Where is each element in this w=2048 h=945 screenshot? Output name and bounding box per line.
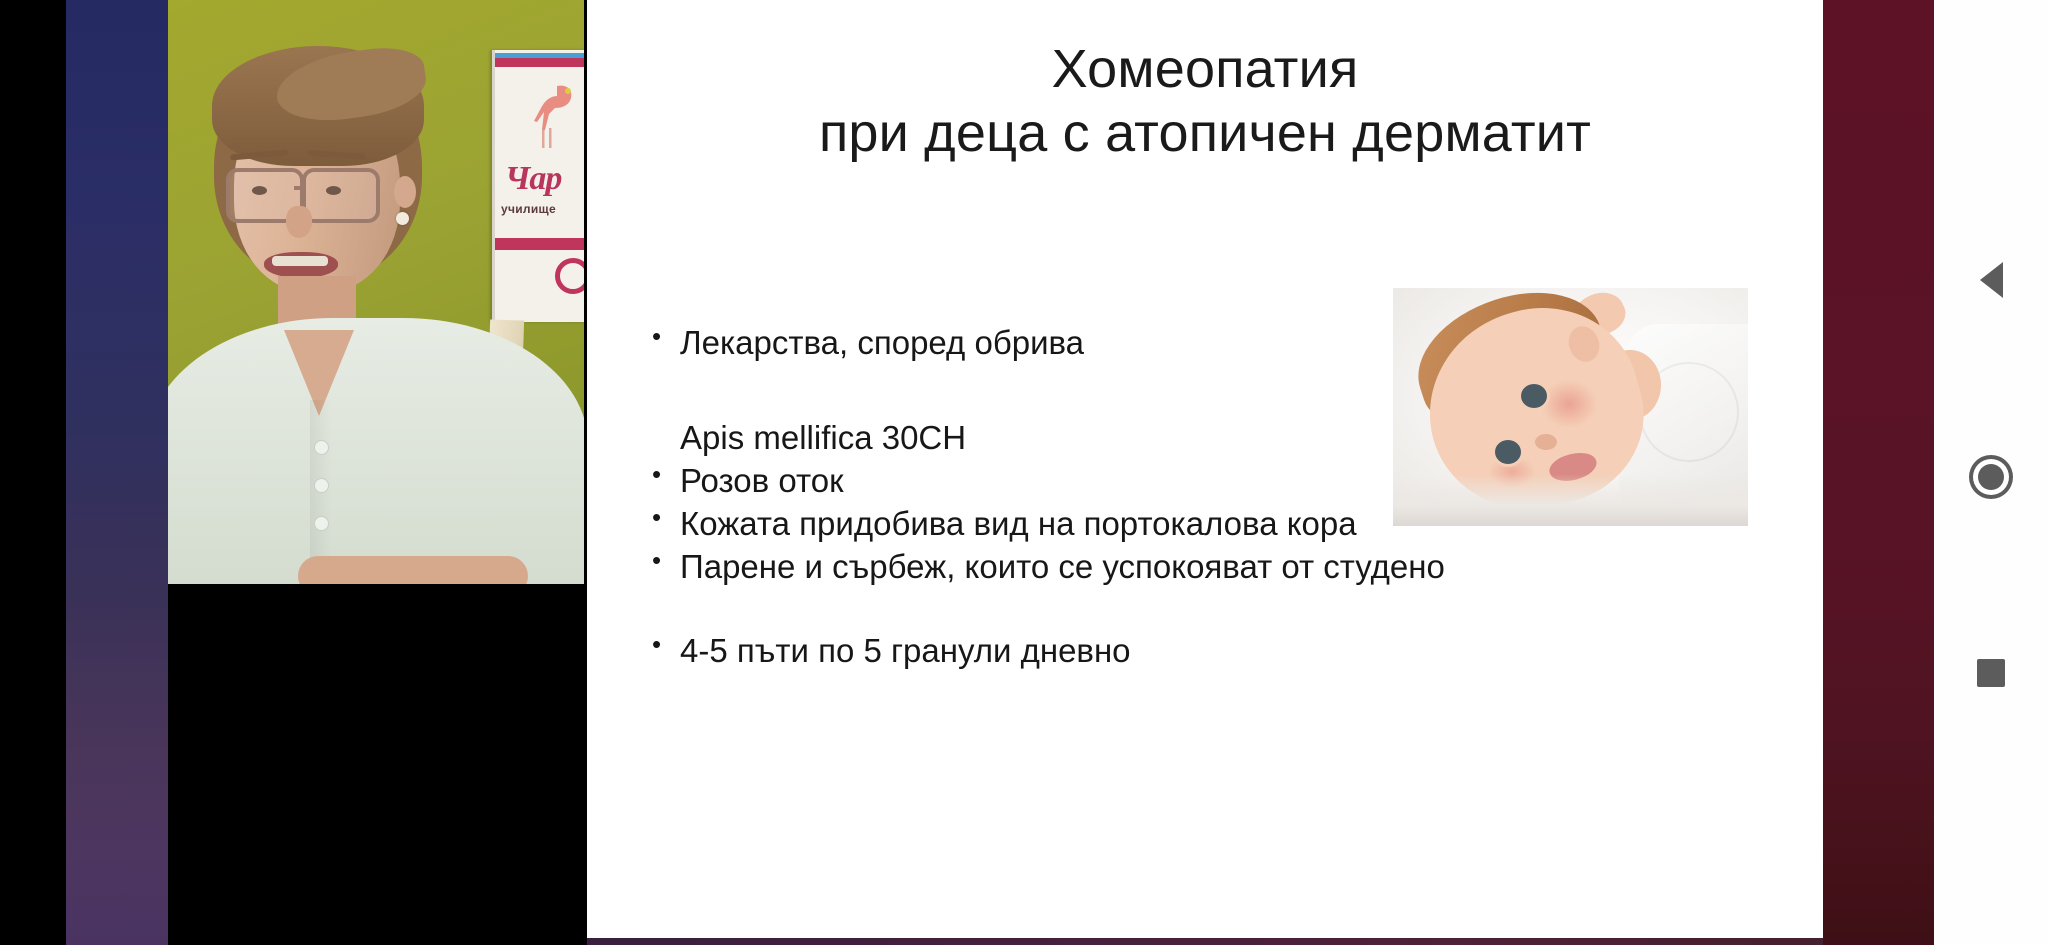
- ambient-glow-left: [66, 0, 168, 945]
- presenter-cardigan: [168, 318, 584, 584]
- nav-home-button[interactable]: [1934, 434, 2048, 520]
- nav-recents-button[interactable]: [1934, 630, 2048, 716]
- baby-cheek-rash: [1541, 380, 1597, 428]
- video-letterbox-bottom: [168, 584, 584, 945]
- android-navigation-bar: [1934, 0, 2048, 945]
- cardigan-button: [314, 440, 329, 455]
- slide-bullet: Парене и сърбеж, които се успокояват от …: [644, 546, 1664, 589]
- eyeglasses-bridge: [294, 186, 306, 190]
- baby-with-rash-photo: [1393, 288, 1748, 526]
- slide-title-line1: Хомеопатия: [1052, 39, 1359, 99]
- flamingo-icon: [519, 78, 579, 154]
- baby-eye-right: [1495, 440, 1521, 464]
- poster-red-band-top: [495, 58, 584, 67]
- slide-spacer: [644, 588, 1664, 630]
- triangle-left-icon: [1980, 262, 2003, 298]
- poster-title: Чар: [505, 160, 561, 198]
- presenter-teeth: [272, 256, 328, 266]
- square-icon: [1977, 659, 2005, 687]
- presentation-slide[interactable]: Хомеопатия при деца с атопичен дерматит …: [587, 0, 1823, 938]
- poster-red-band-bottom: [495, 238, 584, 250]
- screen: Чар училище: [0, 0, 2048, 945]
- poster-subtitle: училище: [501, 202, 556, 216]
- slide-bottom-edge: [587, 938, 1823, 945]
- nav-back-button[interactable]: [1934, 237, 2048, 323]
- circle-icon: [1978, 464, 2004, 490]
- left-black-bar: [0, 0, 66, 945]
- ambient-glow-right: [1822, 0, 1934, 945]
- baby-bedding: [1393, 474, 1748, 526]
- presenter-video-tile[interactable]: Чар училище: [168, 0, 584, 584]
- baby-eye-left: [1521, 384, 1547, 408]
- slide-title: Хомеопатия при деца с атопичен дерматит: [587, 38, 1823, 165]
- presenter-nose: [286, 206, 312, 238]
- cardigan-button: [314, 516, 329, 531]
- eyeglasses-right-lens: [302, 168, 380, 223]
- poster-circle-mark: [555, 258, 584, 294]
- slide-bullet: 4-5 пъти по 5 гранули дневно: [644, 630, 1664, 673]
- presenter-forearm: [298, 556, 528, 584]
- presenter-ear: [394, 176, 416, 208]
- slide-title-line2: при деца с атопичен дерматит: [587, 102, 1823, 166]
- baby-nose: [1535, 434, 1557, 450]
- wall-poster: Чар училище: [492, 50, 584, 322]
- cardigan-button: [314, 478, 329, 493]
- presenter-earring: [396, 212, 409, 225]
